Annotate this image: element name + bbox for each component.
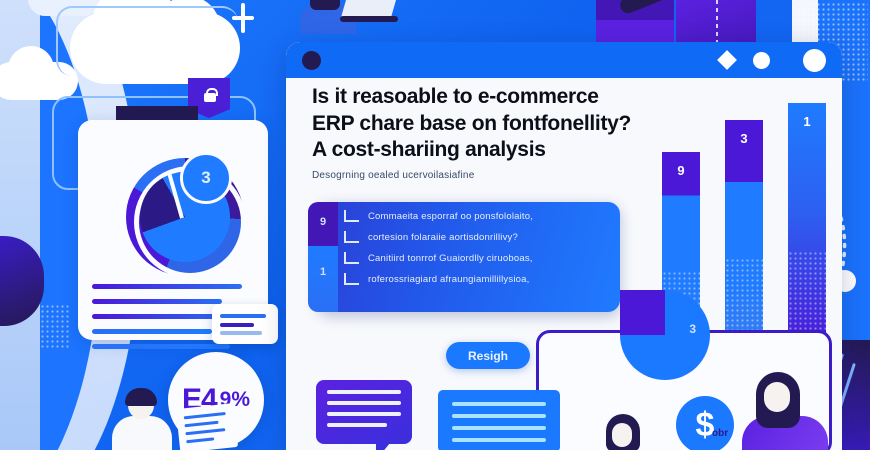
list-item-label: Canitiird tonrrof Guaiordlly ciruoboas,	[368, 253, 533, 264]
money-badge: $	[676, 396, 734, 450]
diamond-icon[interactable]	[717, 50, 737, 70]
decorative-outline	[56, 6, 238, 76]
bullet-list: Commaeita esporraf oo ponsfololaito, cor…	[344, 210, 614, 294]
list-item[interactable]: cortesion folaraiie aortisdonrillivy?	[344, 231, 614, 243]
circle-icon[interactable]	[753, 52, 770, 69]
page-title: Is it reasoable to e-commerce ERP chare …	[312, 84, 642, 164]
tooltip-card	[212, 304, 278, 344]
window-title-bar[interactable]	[286, 42, 842, 78]
bullet-marker-icon	[344, 210, 359, 222]
panel-tab-1[interactable]: 9	[308, 202, 338, 246]
bar-value-label: 9	[662, 163, 700, 178]
pie-value-label: 3	[689, 322, 696, 336]
person-right	[742, 372, 828, 450]
dot-texture	[40, 304, 70, 350]
bar-value-label: 1	[788, 114, 826, 129]
page-subtitle: Desogrning oealed ucervoilasiafine	[312, 170, 612, 181]
person-sitting	[618, 0, 728, 30]
primary-button[interactable]: Resigh	[446, 342, 530, 369]
list-item[interactable]: Commaeita esporraf oo ponsfololaito,	[344, 210, 614, 222]
lock-icon	[204, 88, 216, 102]
circle-icon[interactable]	[803, 49, 826, 72]
person-right-small	[598, 414, 650, 450]
bullet-marker-icon	[344, 273, 359, 285]
list-item-label: Commaeita esporraf oo ponsfololaito,	[368, 211, 533, 222]
panel-tab-2-label: 1	[308, 266, 338, 278]
bar-chart-bar: 1	[788, 103, 826, 350]
bullet-marker-icon	[344, 231, 359, 243]
donut-badge: 3	[180, 152, 232, 204]
screenshot-canvas: 3 E4 9% Is it rea	[0, 0, 870, 450]
pie-slice-square	[620, 290, 665, 335]
bar-value-label: 3	[725, 131, 763, 146]
panel-tab-2[interactable]: 1	[308, 246, 338, 312]
bar-chart-bar: 3	[725, 120, 763, 350]
money-badge-caption: obr	[712, 428, 728, 439]
window-dot-icon[interactable]	[302, 51, 321, 70]
list-item[interactable]: Canitiird tonrrof Guaiordlly ciruoboas,	[344, 252, 614, 264]
content-card	[438, 390, 560, 450]
person-laptop	[300, 0, 396, 36]
list-item[interactable]: roferossriagiard afraungiamillillysioa,	[344, 273, 614, 285]
panel-tab-1-label: 9	[308, 216, 338, 228]
list-item-label: cortesion folaraiie aortisdonrillivy?	[368, 232, 518, 243]
bullet-marker-icon	[344, 252, 359, 264]
person-left	[108, 392, 178, 450]
speech-bubble	[316, 380, 412, 444]
list-item-label: roferossriagiard afraungiamillillysioa,	[368, 274, 529, 285]
document-note	[176, 403, 238, 450]
